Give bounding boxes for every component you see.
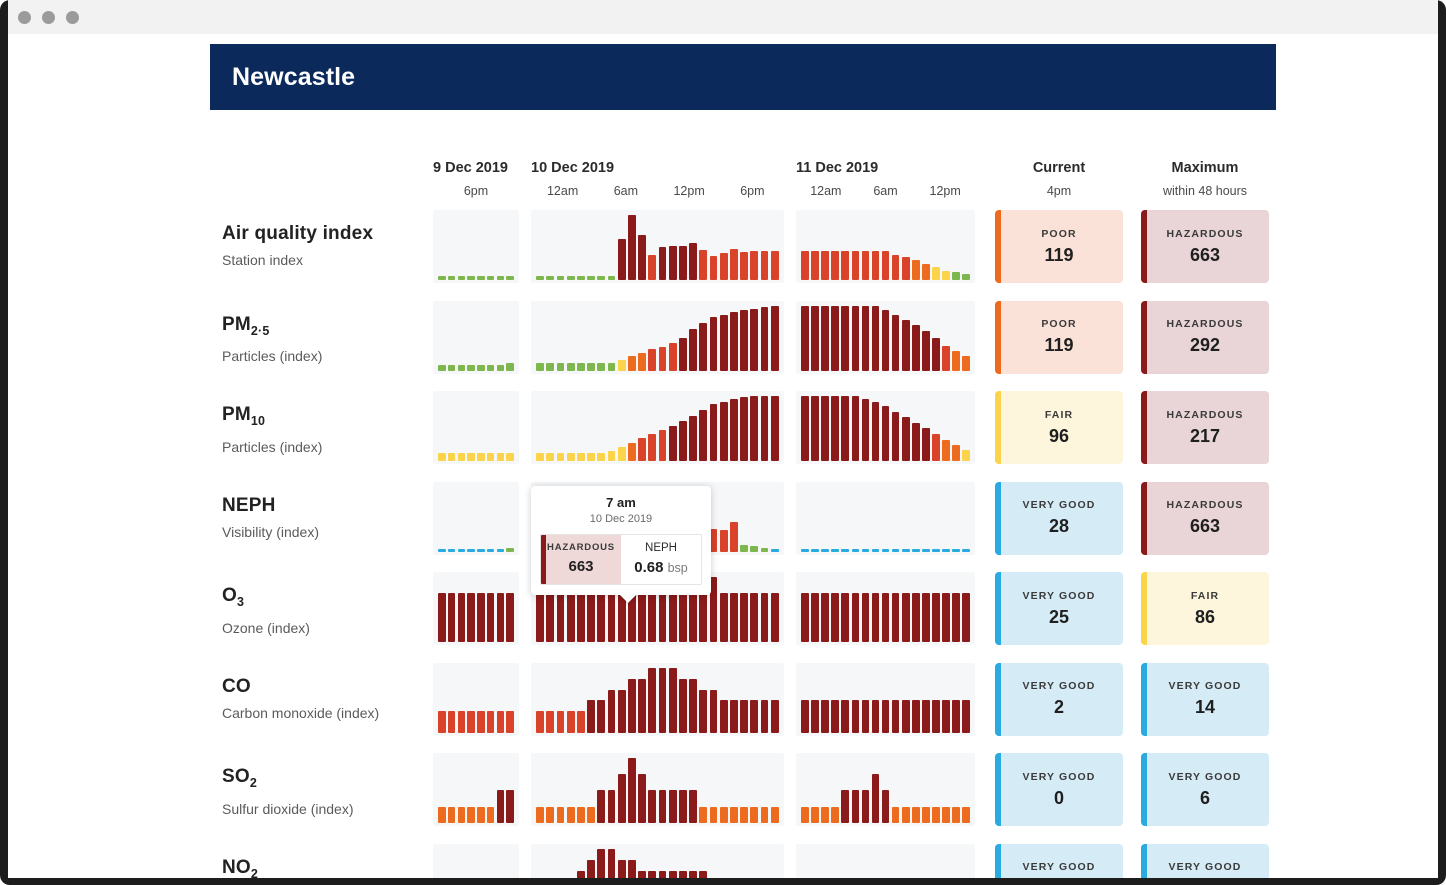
chart-bar[interactable] (841, 396, 849, 461)
chart-bar[interactable] (750, 807, 758, 823)
chart-bar[interactable] (710, 807, 718, 823)
chart-bar[interactable] (710, 256, 718, 280)
chart-bar[interactable] (922, 549, 930, 552)
chart-bar[interactable] (740, 545, 748, 552)
chart-bar[interactable] (628, 356, 636, 371)
chart-bar[interactable] (882, 790, 890, 823)
chart-bar[interactable] (740, 700, 748, 733)
close-dot[interactable] (18, 11, 31, 24)
chart-bar[interactable] (761, 396, 769, 461)
chart-bar[interactable] (892, 412, 900, 461)
chart-bar[interactable] (567, 711, 575, 733)
chart-bar[interactable] (740, 252, 748, 280)
chart-bar[interactable] (546, 363, 554, 371)
chart-bar[interactable] (557, 711, 565, 733)
maximum-status-card[interactable]: HAZARDOUS292 (1141, 301, 1269, 374)
chart-bar[interactable] (932, 434, 940, 461)
mini-bar-chart[interactable] (796, 301, 975, 374)
maximum-status-card[interactable]: HAZARDOUS663 (1141, 482, 1269, 555)
chart-bar[interactable] (841, 593, 849, 642)
chart-bar[interactable] (892, 315, 900, 371)
chart-bar[interactable] (618, 774, 626, 823)
chart-bar[interactable] (720, 807, 728, 823)
maximum-status-card[interactable]: VERY GOOD14 (1141, 663, 1269, 736)
chart-bar[interactable] (902, 549, 910, 552)
chart-bar[interactable] (912, 260, 920, 280)
chart-bar[interactable] (506, 593, 513, 642)
chart-bar[interactable] (689, 679, 697, 733)
chart-bar[interactable] (872, 251, 880, 280)
chart-bar[interactable] (872, 700, 880, 733)
mini-bar-chart[interactable] (796, 391, 975, 464)
chart-bar[interactable] (567, 453, 575, 461)
chart-bar[interactable] (608, 363, 616, 371)
chart-bar[interactable] (608, 276, 616, 280)
chart-bar[interactable] (669, 343, 677, 371)
chart-bar[interactable] (730, 700, 738, 733)
chart-bar[interactable] (597, 363, 605, 371)
chart-bar[interactable] (618, 447, 626, 461)
chart-bar[interactable] (497, 549, 504, 552)
mini-bar-chart[interactable] (796, 482, 975, 555)
chart-bar[interactable] (862, 700, 870, 733)
chart-bar[interactable] (669, 668, 677, 733)
chart-bar[interactable] (689, 329, 697, 371)
chart-bar[interactable] (932, 549, 940, 552)
chart-bar[interactable] (448, 453, 455, 461)
chart-bar[interactable] (638, 438, 646, 461)
chart-bar[interactable] (438, 276, 445, 280)
chart-bar[interactable] (577, 711, 585, 733)
minimize-dot[interactable] (42, 11, 55, 24)
chart-bar[interactable] (577, 807, 585, 823)
chart-bar[interactable] (438, 365, 445, 371)
current-status-card[interactable]: VERY GOOD25 (995, 572, 1123, 645)
chart-bar[interactable] (487, 711, 494, 733)
chart-bar[interactable] (882, 700, 890, 733)
chart-bar[interactable] (497, 790, 504, 823)
chart-bar[interactable] (922, 331, 930, 371)
chart-bar[interactable] (497, 453, 504, 461)
chart-bar[interactable] (546, 711, 554, 733)
chart-bar[interactable] (962, 700, 970, 733)
chart-bar[interactable] (761, 307, 769, 371)
mini-bar-chart[interactable] (531, 391, 784, 464)
chart-bar[interactable] (750, 396, 758, 461)
chart-bar[interactable] (458, 276, 465, 280)
chart-bar[interactable] (506, 363, 513, 371)
chart-bar[interactable] (628, 443, 636, 461)
chart-bar[interactable] (750, 251, 758, 280)
chart-bar[interactable] (942, 807, 950, 823)
chart-bar[interactable] (771, 807, 779, 823)
mini-bar-chart[interactable] (796, 663, 975, 736)
chart-bar[interactable] (882, 593, 890, 642)
chart-bar[interactable] (811, 549, 819, 552)
chart-bar[interactable] (821, 807, 829, 823)
chart-bar[interactable] (648, 668, 656, 733)
chart-bar[interactable] (557, 593, 565, 642)
chart-bar[interactable] (852, 396, 860, 461)
chart-bar[interactable] (932, 593, 940, 642)
chart-bar[interactable] (438, 807, 445, 823)
chart-bar[interactable] (872, 402, 880, 461)
chart-bar[interactable] (467, 593, 474, 642)
chart-bar[interactable] (477, 807, 484, 823)
chart-bar[interactable] (892, 700, 900, 733)
chart-bar[interactable] (448, 711, 455, 733)
chart-bar[interactable] (487, 807, 494, 823)
chart-bar[interactable] (761, 593, 769, 642)
chart-bar[interactable] (952, 549, 960, 552)
chart-bar[interactable] (852, 790, 860, 823)
chart-bar[interactable] (679, 593, 687, 642)
chart-bar[interactable] (932, 338, 940, 371)
chart-bar[interactable] (942, 593, 950, 642)
chart-bar[interactable] (458, 593, 465, 642)
chart-bar[interactable] (608, 690, 616, 733)
chart-bar[interactable] (912, 593, 920, 642)
current-status-card[interactable]: FAIR96 (995, 391, 1123, 464)
chart-bar[interactable] (740, 593, 748, 642)
chart-bar[interactable] (942, 271, 950, 280)
chart-bar[interactable] (902, 700, 910, 733)
chart-bar[interactable] (932, 700, 940, 733)
chart-bar[interactable] (710, 690, 718, 733)
chart-bar[interactable] (811, 251, 819, 280)
chart-bar[interactable] (567, 276, 575, 280)
chart-bar[interactable] (952, 445, 960, 461)
chart-bar[interactable] (689, 790, 697, 823)
chart-bar[interactable] (932, 807, 940, 823)
chart-bar[interactable] (801, 549, 809, 552)
chart-bar[interactable] (952, 272, 960, 280)
chart-bar[interactable] (801, 593, 809, 642)
mini-bar-chart[interactable] (433, 663, 519, 736)
chart-bar[interactable] (597, 453, 605, 461)
chart-bar[interactable] (536, 276, 544, 280)
chart-bar[interactable] (467, 453, 474, 461)
chart-bar[interactable] (771, 396, 779, 461)
chart-bar[interactable] (679, 338, 687, 371)
chart-bar[interactable] (438, 711, 445, 733)
chart-bar[interactable] (922, 700, 930, 733)
chart-bar[interactable] (608, 451, 616, 461)
chart-bar[interactable] (821, 396, 829, 461)
chart-bar[interactable] (659, 247, 667, 280)
chart-bar[interactable] (477, 365, 484, 371)
chart-bar[interactable] (882, 310, 890, 371)
chart-bar[interactable] (710, 317, 718, 371)
chart-bar[interactable] (487, 549, 494, 552)
chart-bar[interactable] (679, 421, 687, 461)
chart-bar[interactable] (458, 549, 465, 552)
chart-bar[interactable] (699, 323, 707, 371)
chart-bar[interactable] (448, 549, 455, 552)
chart-bar[interactable] (487, 593, 494, 642)
chart-bar[interactable] (862, 549, 870, 552)
chart-bar[interactable] (458, 365, 465, 371)
chart-bar[interactable] (618, 690, 626, 733)
chart-bar[interactable] (841, 700, 849, 733)
chart-bar[interactable] (659, 790, 667, 823)
chart-bar[interactable] (710, 404, 718, 461)
chart-bar[interactable] (679, 679, 687, 733)
chart-bar[interactable] (536, 363, 544, 371)
chart-bar[interactable] (628, 758, 636, 823)
chart-bar[interactable] (669, 246, 677, 280)
chart-bar[interactable] (892, 255, 900, 280)
chart-bar[interactable] (852, 549, 860, 552)
chart-bar[interactable] (922, 807, 930, 823)
chart-bar[interactable] (912, 325, 920, 371)
chart-bar[interactable] (852, 306, 860, 371)
chart-bar[interactable] (761, 807, 769, 823)
mini-bar-chart[interactable] (531, 753, 784, 826)
chart-bar[interactable] (648, 593, 656, 642)
chart-bar[interactable] (506, 711, 513, 733)
current-status-card[interactable]: POOR119 (995, 301, 1123, 374)
chart-bar[interactable] (942, 440, 950, 461)
chart-bar[interactable] (567, 363, 575, 371)
chart-bar[interactable] (750, 309, 758, 371)
chart-bar[interactable] (771, 251, 779, 280)
chart-bar[interactable] (638, 593, 646, 642)
chart-bar[interactable] (567, 593, 575, 642)
mini-bar-chart[interactable] (433, 753, 519, 826)
chart-bar[interactable] (811, 700, 819, 733)
chart-bar[interactable] (587, 807, 595, 823)
chart-bar[interactable] (912, 807, 920, 823)
chart-bar[interactable] (831, 549, 839, 552)
chart-bar[interactable] (862, 306, 870, 371)
chart-bar[interactable] (771, 306, 779, 371)
chart-bar[interactable] (608, 790, 616, 823)
current-status-card[interactable]: VERY GOOD2 (995, 663, 1123, 736)
chart-bar[interactable] (597, 790, 605, 823)
current-status-card[interactable]: VERY GOOD0 (995, 753, 1123, 826)
chart-bar[interactable] (952, 700, 960, 733)
chart-bar[interactable] (821, 593, 829, 642)
chart-bar[interactable] (458, 453, 465, 461)
chart-bar[interactable] (577, 593, 585, 642)
chart-bar[interactable] (506, 548, 513, 552)
chart-bar[interactable] (831, 700, 839, 733)
chart-bar[interactable] (487, 276, 494, 280)
chart-bar[interactable] (852, 700, 860, 733)
chart-bar[interactable] (902, 257, 910, 280)
chart-bar[interactable] (557, 453, 565, 461)
current-status-card[interactable]: POOR119 (995, 210, 1123, 283)
chart-bar[interactable] (720, 402, 728, 461)
chart-bar[interactable] (962, 593, 970, 642)
chart-bar[interactable] (811, 306, 819, 371)
chart-bar[interactable] (628, 679, 636, 733)
chart-bar[interactable] (618, 239, 626, 280)
chart-bar[interactable] (872, 593, 880, 642)
chart-bar[interactable] (536, 711, 544, 733)
chart-bar[interactable] (801, 251, 809, 280)
chart-bar[interactable] (477, 593, 484, 642)
chart-bar[interactable] (689, 416, 697, 461)
chart-bar[interactable] (902, 807, 910, 823)
chart-bar[interactable] (587, 453, 595, 461)
chart-bar[interactable] (862, 251, 870, 280)
chart-bar[interactable] (771, 700, 779, 733)
chart-bar[interactable] (852, 593, 860, 642)
chart-bar[interactable] (962, 807, 970, 823)
maximum-status-card[interactable]: FAIR86 (1141, 572, 1269, 645)
chart-bar[interactable] (557, 276, 565, 280)
chart-bar[interactable] (902, 593, 910, 642)
chart-bar[interactable] (801, 306, 809, 371)
chart-bar[interactable] (669, 426, 677, 461)
chart-bar[interactable] (831, 306, 839, 371)
maximum-status-card[interactable]: VERY GOOD6 (1141, 753, 1269, 826)
chart-bar[interactable] (587, 700, 595, 733)
chart-bar[interactable] (448, 593, 455, 642)
chart-bar[interactable] (648, 255, 656, 280)
maximize-dot[interactable] (66, 11, 79, 24)
chart-bar[interactable] (740, 397, 748, 461)
chart-bar[interactable] (750, 593, 758, 642)
chart-bar[interactable] (831, 251, 839, 280)
chart-bar[interactable] (872, 306, 880, 371)
mini-bar-chart[interactable] (531, 210, 784, 283)
chart-bar[interactable] (587, 593, 595, 642)
chart-bar[interactable] (892, 593, 900, 642)
chart-bar[interactable] (577, 363, 585, 371)
chart-bar[interactable] (771, 593, 779, 642)
chart-bar[interactable] (761, 251, 769, 280)
chart-bar[interactable] (477, 549, 484, 552)
chart-bar[interactable] (761, 700, 769, 733)
chart-bar[interactable] (477, 276, 484, 280)
chart-bar[interactable] (730, 522, 738, 552)
chart-bar[interactable] (659, 668, 667, 733)
chart-bar[interactable] (730, 807, 738, 823)
chart-bar[interactable] (841, 306, 849, 371)
chart-bar[interactable] (720, 315, 728, 371)
chart-bar[interactable] (679, 246, 687, 280)
chart-bar[interactable] (841, 790, 849, 823)
chart-bar[interactable] (730, 399, 738, 461)
chart-bar[interactable] (536, 593, 544, 642)
chart-bar[interactable] (761, 548, 769, 552)
chart-bar[interactable] (912, 700, 920, 733)
chart-bar[interactable] (546, 593, 554, 642)
mini-bar-chart[interactable] (531, 301, 784, 374)
chart-bar[interactable] (942, 346, 950, 371)
chart-bar[interactable] (438, 549, 445, 552)
chart-bar[interactable] (458, 807, 465, 823)
chart-bar[interactable] (487, 453, 494, 461)
chart-bar[interactable] (689, 243, 697, 280)
chart-bar[interactable] (577, 453, 585, 461)
chart-bar[interactable] (487, 365, 494, 371)
chart-bar[interactable] (821, 549, 829, 552)
chart-bar[interactable] (438, 593, 445, 642)
chart-bar[interactable] (497, 365, 504, 371)
chart-bar[interactable] (699, 250, 707, 280)
chart-bar[interactable] (942, 549, 950, 552)
chart-bar[interactable] (608, 593, 616, 642)
mini-bar-chart[interactable] (796, 572, 975, 645)
chart-bar[interactable] (821, 700, 829, 733)
chart-bar[interactable] (740, 807, 748, 823)
chart-bar[interactable] (821, 306, 829, 371)
chart-bar[interactable] (720, 593, 728, 642)
chart-bar[interactable] (872, 774, 880, 823)
chart-bar[interactable] (831, 396, 839, 461)
current-status-card[interactable]: VERY GOOD28 (995, 482, 1123, 555)
chart-bar[interactable] (648, 434, 656, 461)
chart-bar[interactable] (932, 267, 940, 280)
chart-bar[interactable] (831, 807, 839, 823)
mini-bar-chart[interactable] (531, 663, 784, 736)
chart-bar[interactable] (720, 530, 728, 552)
chart-bar[interactable] (458, 711, 465, 733)
chart-bar[interactable] (648, 349, 656, 371)
chart-bar[interactable] (467, 807, 474, 823)
chart-bar[interactable] (841, 251, 849, 280)
chart-bar[interactable] (771, 549, 779, 552)
chart-bar[interactable] (821, 251, 829, 280)
maximum-status-card[interactable]: HAZARDOUS217 (1141, 391, 1269, 464)
chart-bar[interactable] (467, 711, 474, 733)
chart-bar[interactable] (882, 251, 890, 280)
chart-bar[interactable] (577, 276, 585, 280)
chart-bar[interactable] (912, 549, 920, 552)
chart-bar[interactable] (638, 353, 646, 371)
maximum-status-card[interactable]: HAZARDOUS663 (1141, 210, 1269, 283)
chart-bar[interactable] (952, 593, 960, 642)
chart-bar[interactable] (811, 593, 819, 642)
chart-bar[interactable] (730, 312, 738, 371)
chart-bar[interactable] (862, 593, 870, 642)
chart-bar[interactable] (801, 807, 809, 823)
chart-bar[interactable] (882, 549, 890, 552)
chart-bar[interactable] (467, 276, 474, 280)
chart-bar[interactable] (497, 711, 504, 733)
chart-bar[interactable] (448, 276, 455, 280)
chart-bar[interactable] (477, 453, 484, 461)
chart-bar[interactable] (852, 251, 860, 280)
chart-bar[interactable] (659, 347, 667, 371)
mini-bar-chart[interactable] (796, 753, 975, 826)
chart-bar[interactable] (497, 593, 504, 642)
chart-bar[interactable] (902, 320, 910, 371)
chart-bar[interactable] (902, 417, 910, 461)
chart-bar[interactable] (587, 276, 595, 280)
chart-bar[interactable] (720, 700, 728, 733)
chart-bar[interactable] (638, 774, 646, 823)
chart-bar[interactable] (962, 356, 970, 371)
chart-bar[interactable] (750, 700, 758, 733)
chart-bar[interactable] (536, 453, 544, 461)
chart-bar[interactable] (801, 700, 809, 733)
chart-bar[interactable] (467, 365, 474, 371)
chart-bar[interactable] (811, 396, 819, 461)
chart-bar[interactable] (438, 453, 445, 461)
chart-bar[interactable] (597, 276, 605, 280)
mini-bar-chart[interactable] (433, 572, 519, 645)
chart-bar[interactable] (567, 807, 575, 823)
chart-bar[interactable] (659, 430, 667, 461)
chart-bar[interactable] (669, 790, 677, 823)
chart-bar[interactable] (638, 235, 646, 280)
mini-bar-chart[interactable] (796, 210, 975, 283)
